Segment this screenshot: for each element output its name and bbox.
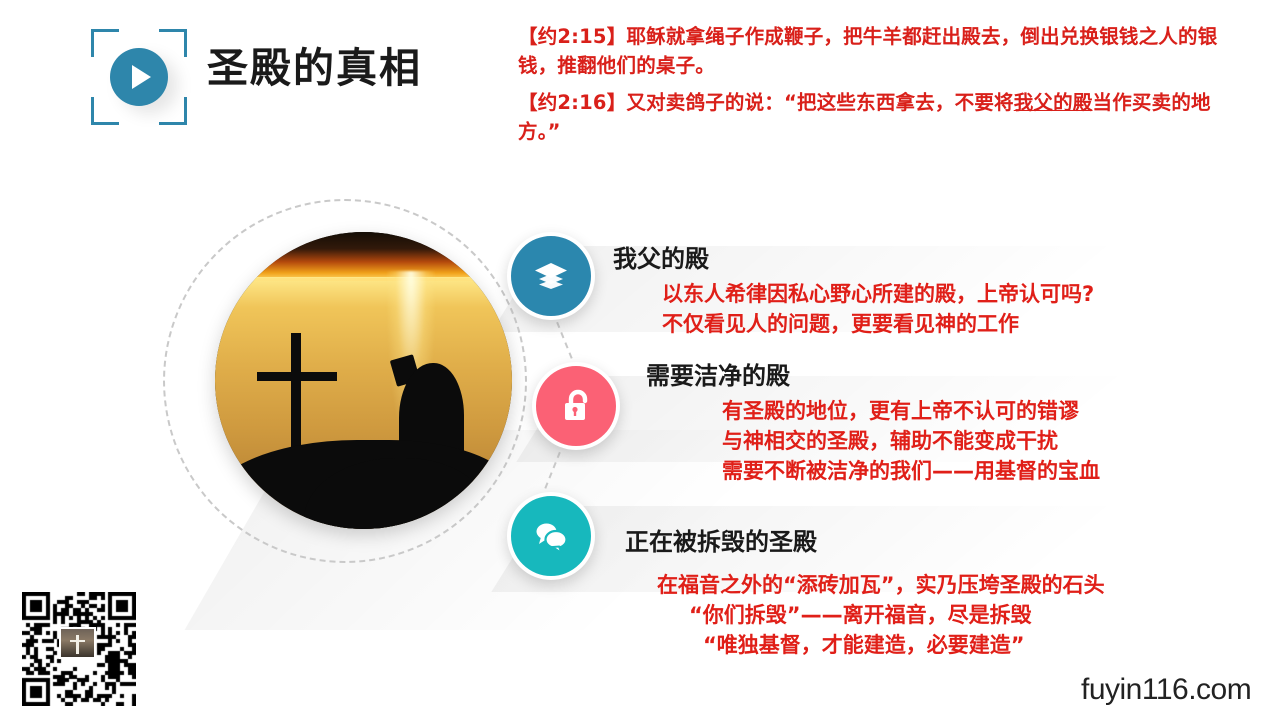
section-2-heading: 需要洁净的殿 bbox=[646, 361, 1100, 391]
qr-center-logo bbox=[59, 627, 96, 659]
scripture-verse-2: 【约2:16】又对卖鸽子的说：“把这些东西拿去，不要将我父的殿当作买卖的地方。” bbox=[518, 88, 1250, 147]
section-3-lines: 在福音之外的“添砖加瓦”，实乃压垮圣殿的石头 “你们拆毁”——离开福音，尽是拆毁… bbox=[625, 571, 1105, 660]
section-2-line-1: 有圣殿的地位，更有上帝不认可的错谬 bbox=[722, 397, 1100, 427]
section-3-line-1: 在福音之外的“添砖加瓦”，实乃压垮圣殿的石头 bbox=[657, 571, 1105, 601]
section-3-line-2: “你们拆毁”——离开福音，尽是拆毁 bbox=[657, 601, 1105, 631]
section-3: 正在被拆毁的圣殿 在福音之外的“添砖加瓦”，实乃压垮圣殿的石头 “你们拆毁”——… bbox=[625, 527, 1105, 660]
layers-icon[interactable] bbox=[507, 232, 595, 320]
section-3-line-3: “唯独基督，才能建造，必要建造” bbox=[657, 631, 1105, 661]
section-1-lines: 以东人希律因私心野心所建的殿，上帝认可吗? 不仅看见人的问题，更要看见神的工作 bbox=[613, 280, 1094, 340]
section-1-heading: 我父的殿 bbox=[613, 244, 1094, 274]
slide-root: 圣殿的真相 【约2:15】耶稣就拿绳子作成鞭子，把牛羊都赶出殿去，倒出兑换银钱之… bbox=[0, 0, 1280, 720]
section-1-line-1: 以东人希律因私心野心所建的殿，上帝认可吗? bbox=[662, 280, 1094, 310]
section-2-lines: 有圣殿的地位，更有上帝不认可的错谬 与神相交的圣殿，辅助不能变成干扰 需要不断被… bbox=[646, 397, 1100, 486]
chat-bubbles-icon[interactable] bbox=[507, 492, 595, 580]
play-button-icon bbox=[110, 48, 168, 106]
scripture-block: 【约2:15】耶稣就拿绳子作成鞭子，把牛羊都赶出殿去，倒出兑换银钱之人的银钱，推… bbox=[518, 22, 1250, 153]
section-1: 我父的殿 以东人希律因私心野心所建的殿，上帝认可吗? 不仅看见人的问题，更要看见… bbox=[613, 244, 1094, 340]
qr-code[interactable] bbox=[22, 592, 136, 706]
scripture-verse-1: 【约2:15】耶稣就拿绳子作成鞭子，把牛羊都赶出殿去，倒出兑换银钱之人的银钱，推… bbox=[518, 22, 1250, 81]
section-1-line-2: 不仅看见人的问题，更要看见神的工作 bbox=[662, 310, 1094, 340]
section-2-line-2: 与神相交的圣殿，辅助不能变成干扰 bbox=[722, 427, 1100, 457]
connector-line-2 bbox=[544, 442, 565, 489]
site-watermark: fuyin116.com bbox=[1081, 675, 1251, 705]
scripture-verse-2-pre: 【约2:16】又对卖鸽子的说：“把这些东西拿去，不要将 bbox=[518, 91, 1014, 114]
scripture-verse-2-underlined: 我父的殿 bbox=[1014, 91, 1093, 114]
sunset-cross-prayer-photo bbox=[215, 232, 512, 529]
section-2-line-3: 需要不断被洁净的我们——用基督的宝血 bbox=[722, 457, 1100, 487]
page-title: 圣殿的真相 bbox=[207, 44, 422, 93]
section-3-heading: 正在被拆毁的圣殿 bbox=[625, 527, 1105, 557]
section-2: 需要洁净的殿 有圣殿的地位，更有上帝不认可的错谬 与神相交的圣殿，辅助不能变成干… bbox=[646, 361, 1100, 486]
unlock-icon[interactable] bbox=[532, 362, 620, 450]
